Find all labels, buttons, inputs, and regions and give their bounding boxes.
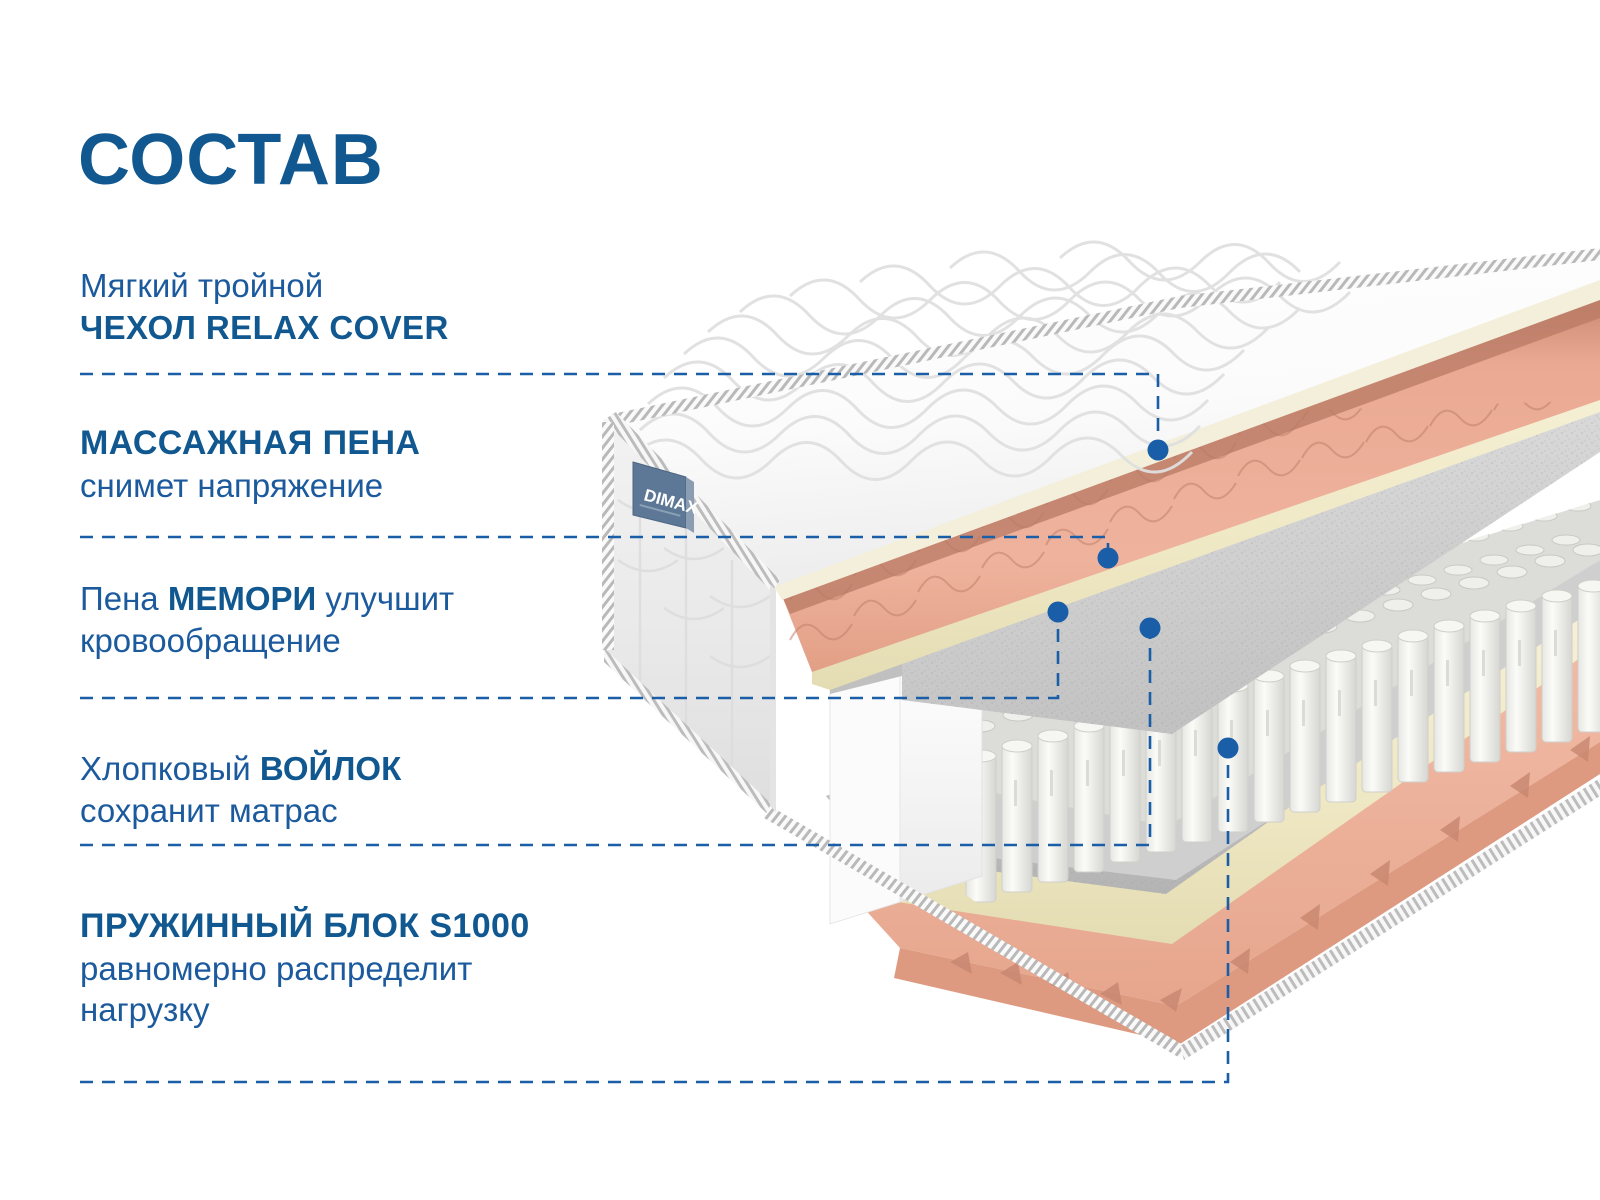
callout-felt-line1: Хлопковый ВОЙЛОК [80, 748, 401, 790]
memory-suffix: улучшит [316, 580, 454, 617]
callout-massage-foam-line2: снимет напряжение [80, 465, 420, 507]
callout-memory-foam-line2: кровообращение [80, 620, 454, 662]
piping-left-corner [602, 422, 614, 650]
felt-prefix: Хлопковый [80, 750, 260, 787]
callout-felt-line2: сохранит матрас [80, 790, 401, 832]
callout-massage-foam: МАССАЖНАЯ ПЕНА снимет напряжение [80, 422, 420, 506]
memory-keyword: МЕМОРИ [168, 580, 316, 617]
callout-spring-block-line1: ПРУЖИННЫЙ БЛОК S1000 [80, 905, 530, 948]
callout-cover-line1: Мягкий тройной [80, 265, 449, 307]
felt-keyword: ВОЙЛОК [260, 750, 401, 787]
callout-spring-block-line3: нагрузку [80, 989, 530, 1031]
callout-memory-foam: Пена МЕМОРИ улучшит кровообращение [80, 578, 454, 661]
callout-massage-foam-line1: МАССАЖНАЯ ПЕНА [80, 422, 420, 465]
page-title: СОСТАВ [78, 124, 384, 196]
side-panel-lower [770, 584, 776, 812]
callout-cover: Мягкий тройной ЧЕХОЛ RELAX COVER [80, 265, 449, 348]
callout-felt: Хлопковый ВОЙЛОК сохранит матрас [80, 748, 401, 831]
callout-spring-block-line2: равномерно распределит [80, 948, 530, 990]
callout-memory-foam-line1: Пена МЕМОРИ улучшит [80, 578, 454, 620]
memory-prefix: Пена [80, 580, 168, 617]
callout-spring-block: ПРУЖИННЫЙ БЛОК S1000 равномерно распреде… [80, 905, 530, 1031]
callout-cover-line2: ЧЕХОЛ RELAX COVER [80, 307, 449, 349]
